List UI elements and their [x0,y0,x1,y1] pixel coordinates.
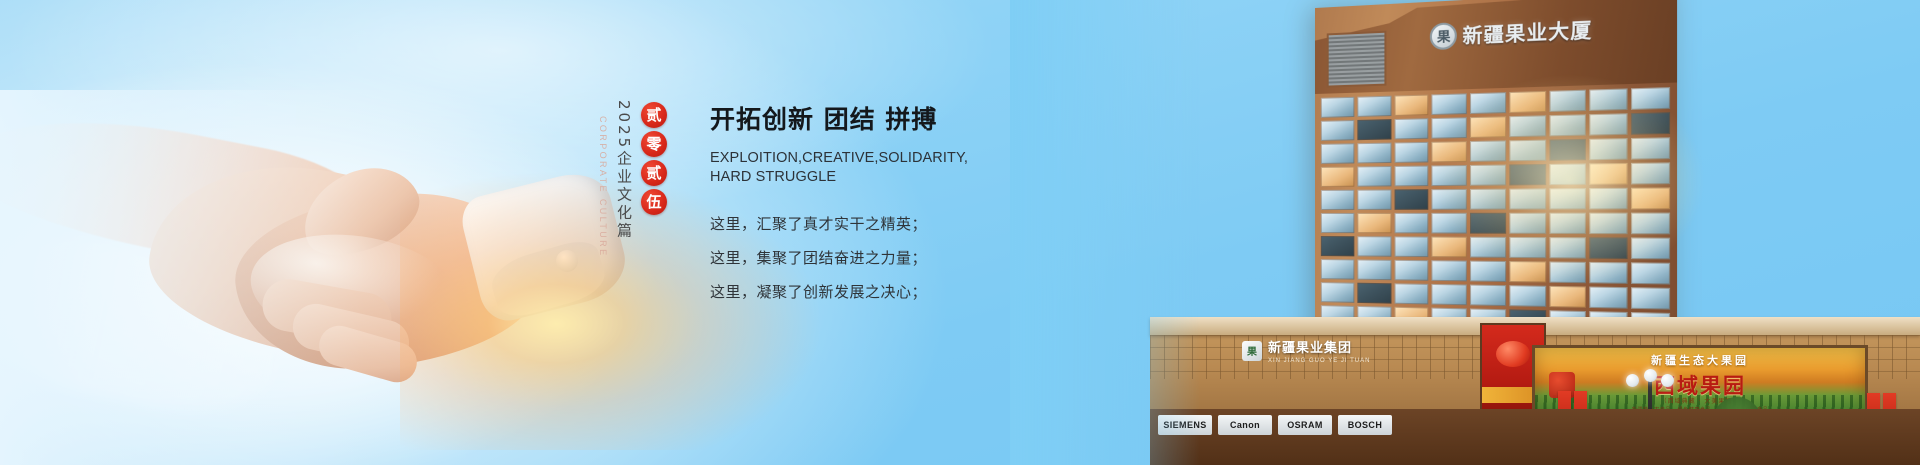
window [1432,165,1467,186]
window [1631,213,1670,235]
slogan-line-2: 这里，集聚了团结奋进之力量； [710,251,970,266]
year-seal-2: 零 [641,131,667,157]
window [1432,189,1467,210]
tower-logo-icon: 果 [1430,22,1457,50]
window [1509,115,1546,137]
window [1509,164,1546,185]
window [1470,285,1506,307]
shop-sign-osram: OSRAM [1278,415,1332,435]
window [1590,237,1628,259]
vertical-chinese-label: 2025企业文化篇 [614,100,635,240]
window [1321,213,1354,233]
window [1590,287,1628,309]
window [1549,261,1586,283]
window [1357,213,1391,233]
window [1394,118,1429,139]
lamp-bulb-center [1644,369,1657,382]
podium-logo-icon: 果 [1242,341,1262,361]
podium-company-name: 新疆果业集团 [1268,337,1370,356]
window [1357,259,1391,280]
window [1432,237,1467,258]
window [1470,189,1506,210]
lamp-head [1626,369,1674,385]
window [1590,138,1628,160]
window [1357,236,1391,257]
window [1631,87,1670,110]
window [1394,283,1429,304]
window [1394,95,1429,116]
window [1549,188,1586,209]
window [1321,259,1354,280]
window [1394,166,1429,187]
billboard-top-text: 新疆生态大果园 [1535,352,1865,368]
window [1590,88,1628,111]
window [1394,189,1429,210]
window [1357,96,1391,117]
window [1509,91,1546,113]
lamp-bulb-left [1626,374,1639,387]
window [1549,114,1586,136]
window [1432,117,1467,138]
window [1321,97,1354,118]
window [1357,283,1391,304]
window [1470,261,1506,282]
window [1321,143,1354,164]
window [1509,285,1546,307]
tower-grille [1327,31,1387,88]
podium-company-name-pinyin: XIN JIANG GUO YE JI TUAN [1268,358,1370,364]
window [1590,163,1628,185]
window [1509,140,1546,162]
window [1470,237,1506,258]
window [1321,236,1354,256]
window [1321,166,1354,186]
window [1357,166,1391,187]
window [1549,139,1586,161]
mall-podium: 果 新疆果业集团 XIN JIANG GUO YE JI TUAN 新疆生态大果… [1150,317,1920,465]
podium-company-sign: 果 新疆果业集团 XIN JIANG GUO YE JI TUAN [1242,337,1370,364]
window [1549,237,1586,259]
window [1631,112,1670,135]
window [1549,163,1586,185]
lamp-bulb-right [1661,374,1674,387]
shop-sign-bosch: BOSCH [1338,415,1392,435]
storefront-row: SIEMENS Canon OSRAM BOSCH [1150,409,1920,465]
year-seal-3: 贰 [641,160,667,186]
company-culture-banner: 诚 信 合 作 CORPORATE CULTURE 2025企业文化篇 贰 零 … [0,0,1920,465]
window [1321,282,1354,303]
window [1631,237,1670,259]
window [1549,90,1586,112]
fruit-graphic-icon [1496,341,1530,367]
window [1631,187,1670,209]
shop-sign-siemens: SIEMENS [1158,415,1212,435]
window [1470,213,1506,234]
window [1590,188,1628,210]
window [1470,140,1506,161]
window [1470,165,1506,186]
calligraphy-char-1: 诚 [244,106,392,267]
window [1432,93,1467,115]
window [1509,237,1546,258]
window [1432,141,1467,162]
window [1432,213,1467,234]
window [1631,287,1670,309]
window [1509,213,1546,234]
window [1509,261,1546,283]
window [1321,120,1354,141]
window [1432,284,1467,305]
window [1357,189,1391,209]
vertical-english-label: CORPORATE CULTURE [598,116,608,257]
tower-sign-text: 新疆果业大厦 [1463,14,1593,48]
headline: 开拓创新 团结 拼搏 [710,100,970,136]
english-subtitle: EXPLOITION,CREATIVE,SOLIDARITY, HARD STR… [710,149,970,187]
calligraphy-char-2: 信 [374,86,541,244]
window [1590,213,1628,235]
window [1590,262,1628,284]
window [1432,260,1467,281]
window [1394,142,1429,163]
vertical-label-block: CORPORATE CULTURE 2025企业文化篇 贰 零 贰 伍 [598,88,667,257]
window [1631,262,1670,284]
window [1509,188,1546,209]
window [1357,143,1391,164]
window [1549,213,1586,234]
english-subtitle-line-1: EXPLOITION,CREATIVE,SOLIDARITY, [710,149,970,168]
window [1394,236,1429,257]
english-subtitle-line-2: HARD STRUGGLE [710,168,970,187]
window [1470,116,1506,138]
window [1470,92,1506,114]
window [1631,137,1670,159]
copy-column: 开拓创新 团结 拼搏 EXPLOITION,CREATIVE,SOLIDARIT… [710,100,970,319]
year-seal-1: 贰 [641,102,667,128]
window [1549,286,1586,308]
window [1394,260,1429,281]
window [1631,162,1670,184]
shop-sign-canon: Canon [1218,415,1272,435]
window [1394,213,1429,234]
slogan-line-1: 这里，汇聚了真才实干之精英； [710,217,970,232]
window [1321,190,1354,210]
year-seal-4: 伍 [641,189,667,215]
year-seal-group: 贰 零 贰 伍 [641,102,667,215]
slogan-line-3: 这里，凝聚了创新发展之决心； [710,285,970,300]
window [1590,113,1628,135]
window [1357,119,1391,140]
building-photo: 果 新疆果业大厦 果 [1010,0,1920,465]
slogan-lines: 这里，汇聚了真才实干之精英； 这里，集聚了团结奋进之力量； 这里，凝聚了创新发展… [710,217,970,300]
